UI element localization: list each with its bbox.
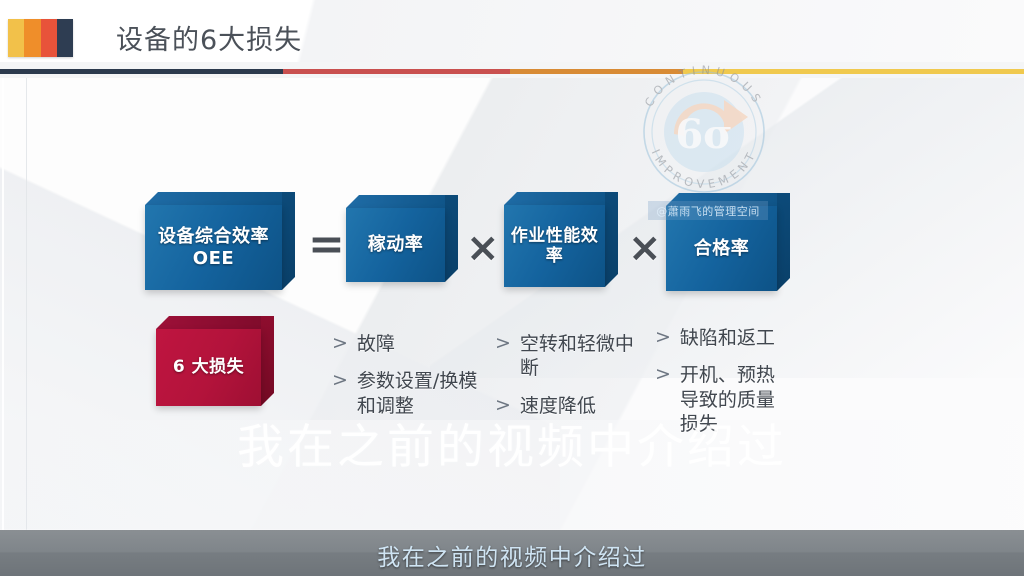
losses-box-label: 6 大损失	[156, 329, 261, 406]
list-item-label: 参数设置/换模和调整	[357, 369, 482, 418]
formula-box-performance-label: 作业性能效率	[504, 205, 605, 287]
formula-box-oee: 设备综合效率OEE	[145, 192, 295, 290]
list-item-label: 速度降低	[520, 394, 596, 418]
formula-box-performance-top	[504, 192, 618, 205]
losses-box-top	[156, 316, 274, 329]
list-item-label: 缺陷和返工	[680, 326, 775, 350]
overlay-subtitle: 我在之前的视频中介绍过	[0, 424, 1024, 471]
formula-box-performance: 作业性能效率	[504, 192, 618, 287]
continuous-improvement-watermark-icon: 6σ CONTINUOUS IMPROVEMENT	[628, 62, 780, 194]
caption-text: 我在之前的视频中介绍过	[0, 538, 1024, 572]
logo-bar-2	[24, 19, 40, 57]
loss-column-2: > 空转和轻微中断 > 速度降低	[495, 332, 635, 431]
formula-box-performance-side	[605, 192, 618, 287]
losses-box-side	[261, 316, 274, 406]
formula-box-availability: 稼动率	[346, 195, 458, 282]
background-facet-b	[0, 78, 560, 576]
logo-bar-1	[8, 19, 24, 57]
rule-segment-2	[283, 69, 510, 74]
list-item: > 故障	[332, 332, 482, 356]
list-item-label: 故障	[357, 332, 395, 356]
formula-box-oee-top	[145, 192, 295, 205]
operator-multiply-1: ×	[466, 228, 500, 268]
formula-box-availability-top	[346, 195, 458, 208]
chevron-right-icon: >	[495, 394, 511, 418]
formula-box-oee-label: 设备综合效率OEE	[145, 205, 282, 290]
brand-logo-icon	[8, 19, 73, 57]
formula-box-availability-side	[445, 195, 458, 282]
page-title: 设备的6大损失	[116, 18, 302, 57]
user-watermark: @蕭雨飞的管理空间	[648, 201, 768, 220]
header-color-rule	[0, 69, 1024, 74]
list-item: > 缺陷和返工	[655, 326, 790, 350]
logo-bar-3	[41, 19, 57, 57]
chevron-right-icon: >	[655, 326, 671, 350]
svg-text:6σ: 6σ	[675, 111, 732, 158]
list-item: > 参数设置/换模和调整	[332, 369, 482, 418]
logo-bar-4	[57, 19, 73, 57]
formula-box-quality-side	[777, 193, 790, 291]
operator-equals: =	[308, 223, 345, 267]
losses-box: 6 大损失	[156, 316, 274, 406]
operator-multiply-2: ×	[628, 228, 662, 268]
background-edge-highlight	[2, 78, 4, 576]
loss-column-1: > 故障 > 参数设置/换模和调整	[332, 332, 482, 431]
chevron-right-icon: >	[332, 369, 348, 418]
formula-box-oee-side	[282, 192, 295, 290]
chevron-right-icon: >	[332, 332, 348, 356]
list-item: > 速度降低	[495, 394, 635, 418]
slide-canvas: 设备的6大损失 6σ CONTINUOUS IMPROVEMENT 设备综合效	[0, 0, 1024, 576]
background-facet-a	[0, 78, 1024, 576]
list-item: > 空转和轻微中断	[495, 332, 635, 381]
background-edge-line	[26, 78, 27, 576]
list-item-label: 空转和轻微中断	[520, 332, 635, 381]
formula-box-availability-label: 稼动率	[346, 208, 445, 282]
chevron-right-icon: >	[495, 332, 511, 381]
rule-segment-1	[0, 69, 283, 74]
